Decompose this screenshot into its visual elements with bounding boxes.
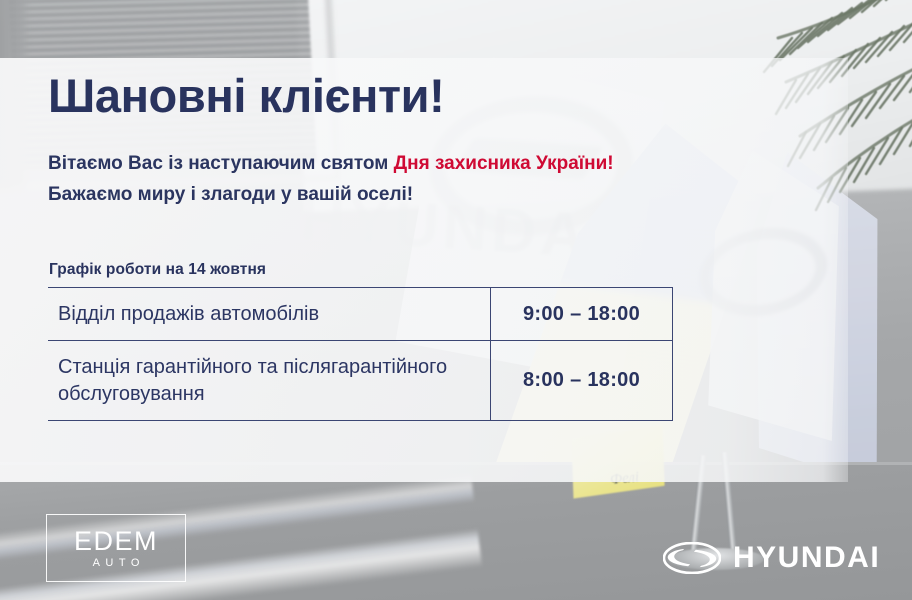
greeting-line-2: Бажаємо миру і злагоди у вашій оселі! xyxy=(48,179,614,210)
greeting-line-1-lead: Вітаємо Вас із наступаючим святом xyxy=(48,153,394,174)
table-row: Відділ продажів автомобілів 9:00 – 18:00 xyxy=(48,288,672,340)
hyundai-logo: HYUNDAI xyxy=(663,538,880,578)
edem-logo-wordmark: EDEM xyxy=(47,526,185,557)
greeting-holiday-name: Дня захисника України! xyxy=(394,153,614,174)
schedule-table: Відділ продажів автомобілів 9:00 – 18:00… xyxy=(48,287,673,421)
table-row: Станція гарантійного та післягарантійног… xyxy=(48,340,672,420)
hours-cell: 8:00 – 18:00 xyxy=(490,341,672,420)
edem-auto-logo: EDEM AUTO xyxy=(46,514,186,582)
hyundai-emblem-icon xyxy=(663,542,721,574)
edem-logo-subtitle: AUTO xyxy=(47,557,185,569)
hyundai-wordmark: HYUNDAI xyxy=(733,543,880,573)
page-title: Шановні клієнти! xyxy=(48,72,444,119)
department-cell: Станція гарантійного та післягарантійног… xyxy=(48,341,490,420)
greeting-text: Вітаємо Вас із наступаючим святом Дня за… xyxy=(48,148,614,211)
schedule-title: Графік роботи на 14 жовтня xyxy=(49,261,266,279)
department-cell: Відділ продажів автомобілів xyxy=(48,288,490,340)
greeting-line-1: Вітаємо Вас із наступаючим святом Дня за… xyxy=(48,148,614,179)
hours-cell: 9:00 – 18:00 xyxy=(490,288,672,340)
banner-stage: HYUNDAI xyxy=(0,0,912,600)
